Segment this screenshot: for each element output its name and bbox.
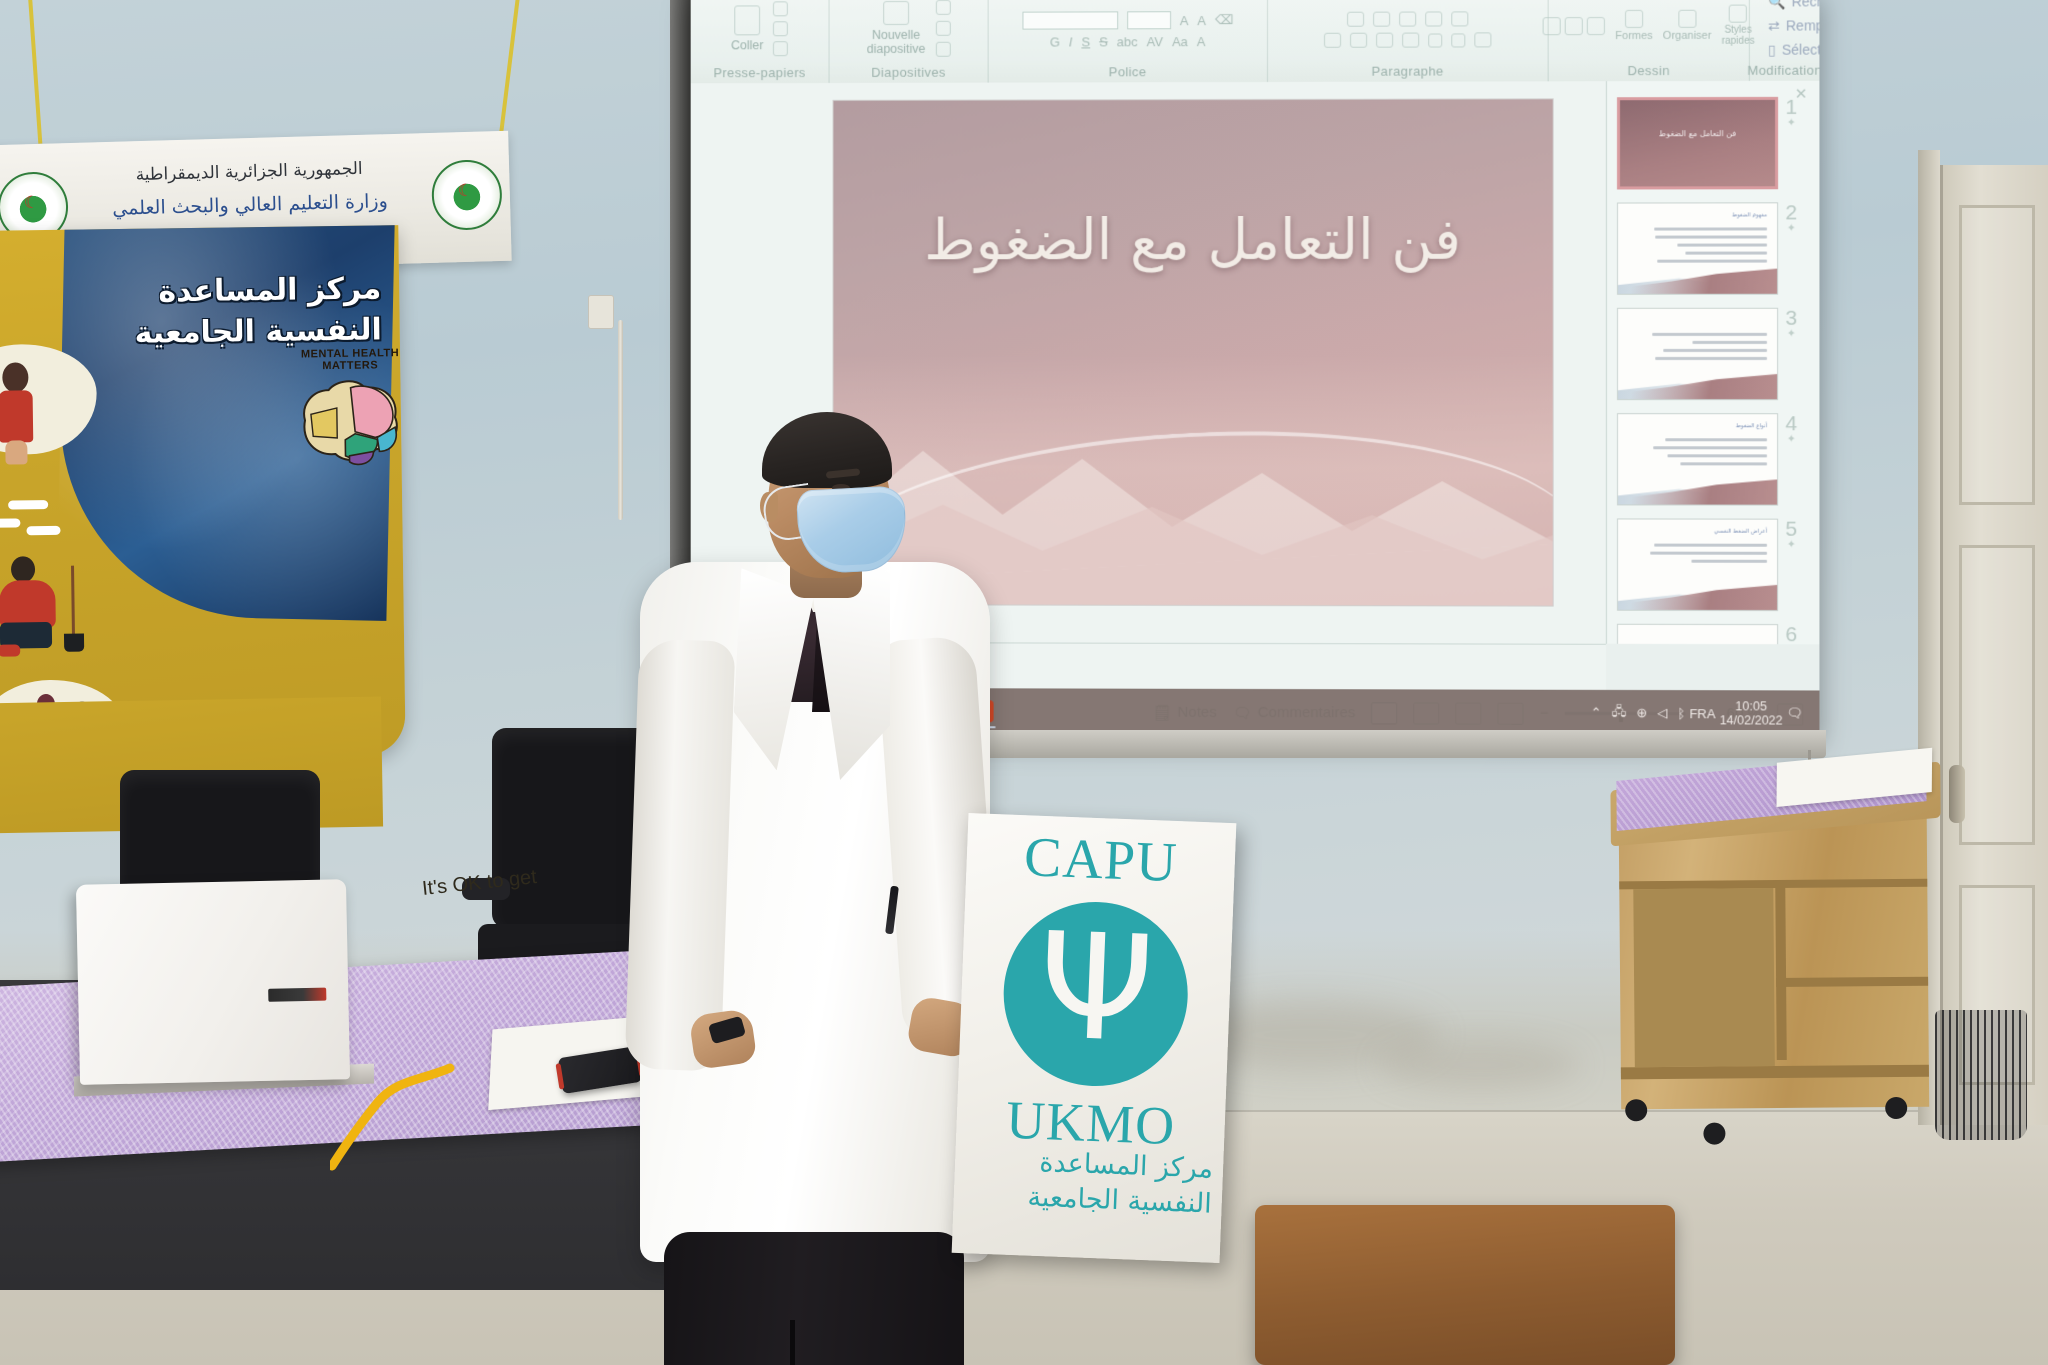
banner-line-ministry: وزارة التعليم العالي والبحث العلمي [0,187,510,224]
wooden-side-table [1255,1205,1675,1365]
thumbnail-slide-5[interactable]: أعراض الضغط النفسي [1617,518,1778,611]
clear-format-icon[interactable]: ⌫ [1215,12,1233,28]
thumbnail-number: 6✦ [1778,624,1804,644]
close-icon[interactable]: ✕ [1795,85,1808,103]
thumbnail-heading-text: أنواع الضغوط [1736,423,1767,429]
increase-font-icon[interactable]: A [1180,13,1189,28]
lecture-room-photo: ☾ ☾ الجمهورية الجزائرية الديمقراطية وزار… [0,0,2048,1365]
paste-button[interactable]: Coller [731,5,763,52]
globe-icon[interactable]: ⊕ [1636,705,1647,721]
presenter-trousers [664,1232,964,1365]
justify-icon[interactable] [1402,33,1419,48]
laptop[interactable] [76,879,350,1085]
ribbon-group-label-font: Police [1109,64,1147,79]
line-spacing-icon[interactable] [1451,11,1468,26]
room-door[interactable] [1940,165,2048,1125]
cart-caster [1625,1099,1647,1121]
ltr-direction-icon[interactable] [1451,33,1465,47]
font-name-combobox[interactable] [1022,11,1118,29]
thumbnail-title-text: فن التعامل مع الضغوط [1620,129,1775,138]
thumbnail-heading-text: أعراض الضغط النفسي [1714,529,1767,535]
ribbon-group-drawing: Formes Organiser Styles rapides Dessin [1549,0,1750,81]
thumbnail-footer-graphic [1618,478,1777,504]
find-button[interactable]: 🔍 Rechercher [1768,0,1819,10]
taskbar-time: 10:05 [1720,699,1783,713]
capu-logo-circle: Ψ [1000,899,1191,1090]
decrease-font-icon[interactable]: A [1197,13,1206,28]
thumbnail-item[interactable]: أعراض الضغط النفسي5✦ [1617,518,1809,611]
select-button[interactable]: ▯ Sélectionner ▾ [1768,41,1819,58]
illustration-plant-pot [64,634,84,652]
align-left-icon[interactable] [1324,33,1341,48]
wall-outlet [588,295,614,329]
thumbnail-item[interactable]: أنواع الضغوط4✦ [1617,413,1809,505]
notification-icon[interactable]: 🗨 [1787,705,1804,721]
wooden-computer-cart [1608,759,1952,1182]
bold-button[interactable]: G [1050,35,1060,50]
decrease-indent-icon[interactable] [1399,12,1416,27]
thumbnail-body-lines [1634,438,1767,470]
section-icon[interactable] [935,41,950,56]
thumbnail-slide-1[interactable]: فن التعامل مع الضغوط [1617,97,1778,190]
thumbnail-heading-text: مفهوم الضغوط [1732,212,1767,218]
ribbon-group-slides: Nouvelle diapositive Diapositives [830,0,989,83]
illustration-cloud [0,518,20,527]
animation-star-icon[interactable]: ✦ [1778,329,1804,340]
thumbnail-slide-6[interactable] [1617,624,1778,645]
format-painter-icon[interactable] [773,41,788,56]
thumbnail-item[interactable]: فن التعامل مع الضغوط1✦ [1617,97,1809,190]
system-tray[interactable]: ⌃🖧⊕◁ᛒ FRA 10:05 14/02/2022 🗨 [1591,699,1812,728]
capu-rollup-banner: مركز المساعدة النفسية الجامعية MENTAL HE… [0,225,406,761]
bluetooth-icon[interactable]: ᛒ [1677,706,1685,721]
thumbnail-number: 5✦ [1778,519,1804,551]
door-panel-mid [1959,545,2035,845]
thumbnail-item[interactable]: 6✦ [1617,624,1809,645]
illustration-cloud [8,500,48,510]
ribbon-group-label-editing: Modification [1747,63,1819,78]
numbering-icon[interactable] [1373,12,1390,27]
mhm-label: MENTAL HEALTH MATTERS [280,347,406,373]
thumbnail-body-lines [1634,227,1767,267]
align-center-icon[interactable] [1350,33,1367,48]
thumbnail-item[interactable]: مفهوم الضغوط2✦ [1617,202,1809,295]
ribbon-group-paragraph: Paragraphe [1268,0,1549,82]
align-right-icon[interactable] [1376,33,1393,48]
replace-icon: ⇄ [1768,17,1780,34]
italic-button[interactable]: I [1069,34,1073,49]
presenter-left-arm [625,638,736,1071]
bullets-icon[interactable] [1347,12,1364,27]
thumbnail-body-lines [1634,544,1767,568]
shapes-label[interactable]: Formes [1615,30,1653,42]
font-size-combobox[interactable] [1127,11,1171,29]
ribbon-group-font: A A ⌫ G I S S abc AV Aa A [989,0,1268,83]
cut-icon[interactable] [773,1,788,16]
underline-button[interactable]: S [1082,34,1091,49]
network-icon[interactable]: 🖧 [1612,702,1627,724]
ribbon-group-clipboard: Coller Presse-papiers [691,0,830,83]
mental-health-matters-badge: MENTAL HEALTH MATTERS [280,347,406,529]
animation-star-icon[interactable]: ✦ [1778,223,1804,234]
thumbnail-slide-2[interactable]: مفهوم الضغوط [1617,202,1778,294]
font-color-button[interactable]: A [1197,34,1206,49]
psi-icon: Ψ [1002,923,1191,1056]
brain-icon [296,373,405,470]
rtl-direction-icon[interactable] [1428,33,1442,47]
trouser-seam [790,1320,795,1365]
columns-icon[interactable] [1474,32,1491,47]
ribbon-group-label-paragraph: Paragraphe [1372,64,1444,79]
ribbon-group-label-clipboard: Presse-papiers [713,65,805,80]
replace-button[interactable]: ⇄ Remplacer ▾ [1768,17,1819,34]
thumbnail-number: 2✦ [1778,202,1804,234]
animation-star-icon[interactable]: ✦ [1778,434,1804,445]
thumbnail-footer-graphic [1618,268,1777,294]
select-icon: ▯ [1768,41,1776,58]
taskbar-clock[interactable]: 10:05 14/02/2022 [1720,699,1783,727]
animation-star-icon[interactable]: ✦ [1778,540,1804,551]
cart-caster [1885,1097,1907,1119]
thumbnail-number: 3✦ [1778,308,1804,340]
powerpoint-ribbon: Coller Presse-papiers N [691,0,1820,83]
char-spacing-button[interactable]: AV [1147,34,1163,49]
thumbnail-slide-3[interactable] [1617,308,1778,400]
reset-icon[interactable] [935,20,950,35]
banner-illustrations [0,349,106,761]
slide-title-text[interactable]: فن التعامل مع الضغوط [834,208,1553,274]
taskbar-date: 14/02/2022 [1720,713,1783,727]
copy-icon[interactable] [773,21,788,36]
shadow-button[interactable]: abc [1117,34,1138,49]
capu-ukmo-sign: CAPU Ψ UKMO مركز المساعدة النفسية الجامع… [952,813,1237,1263]
thumbnail-item[interactable]: 3✦ [1617,308,1809,400]
change-case-button[interactable]: Aa [1172,34,1188,49]
animation-star-icon[interactable]: ✦ [1778,118,1804,129]
volume-icon[interactable]: ◁ [1657,705,1667,721]
ribbon-group-label-drawing: Dessin [1627,63,1669,78]
door-handle[interactable] [1949,765,1965,823]
strikethrough-button[interactable]: S [1099,34,1108,49]
yellow-cable [330,1062,460,1172]
arrange-label[interactable]: Organiser [1663,30,1712,42]
thumbnail-number: 4✦ [1778,413,1804,445]
laptop-brand-badge [268,988,326,1002]
ribbon-group-editing: 🔍 Rechercher ⇄ Remplacer ▾ ▯ Sélectionne… [1750,0,1820,81]
wall-cable [618,320,623,520]
wall-smudge [1380,1040,1580,1090]
thumbnail-footer-graphic [1618,584,1777,610]
thumbnail-list[interactable]: فن التعامل مع الضغوط1✦مفهوم الضغوط2✦3✦أن… [1617,97,1809,644]
ribbon-group-label-slides: Diapositives [871,65,945,80]
layout-icon[interactable] [935,0,950,14]
cart-caster [1703,1122,1725,1144]
increase-indent-icon[interactable] [1425,11,1442,26]
door-panel-upper [1959,205,2035,505]
capu-arabic-text: مركز المساعدة النفسية الجامعية [961,1143,1213,1222]
thumbnail-slide-4[interactable]: أنواع الضغوط [1617,413,1778,505]
illustration-cloud [26,526,60,535]
new-slide-button[interactable]: Nouvelle diapositive [867,0,926,55]
slide-thumbnail-panel[interactable]: ✕ فن التعامل مع الضغوط1✦مفهوم الضغوط2✦3✦… [1606,81,1820,645]
taskbar-language[interactable]: FRA [1689,706,1715,721]
thumbnail-body-lines [1634,333,1767,365]
cart-body [1619,817,1930,1110]
capu-wordmark: CAPU [966,827,1236,893]
banner-center-title: مركز المساعدة النفسية الجامعية [91,269,382,354]
thumbnail-footer-graphic [1618,373,1777,399]
illustration-plant [71,566,75,636]
show-hidden-icons[interactable]: ⌃ [1591,705,1602,721]
magnifier-icon: 🔍 [1768,0,1786,10]
